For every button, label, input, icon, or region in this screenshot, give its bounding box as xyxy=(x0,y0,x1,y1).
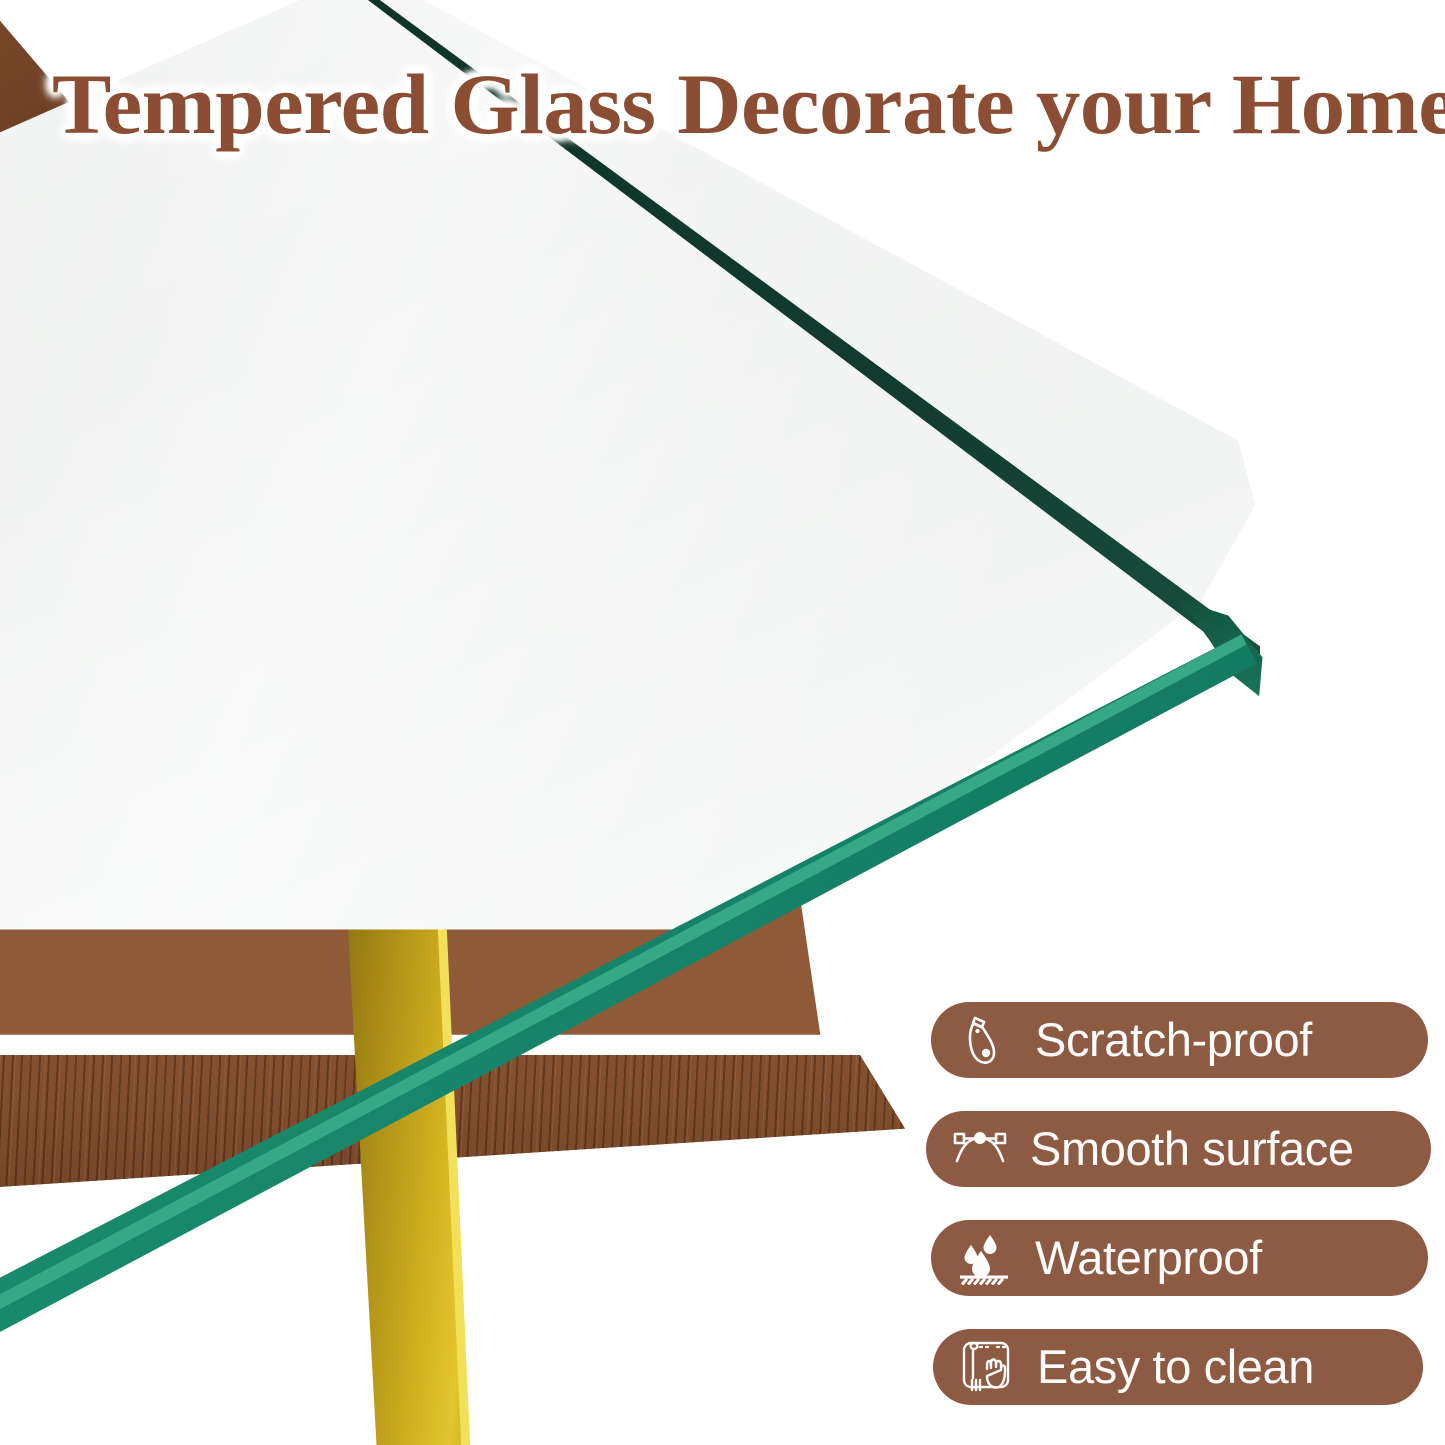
feature-label: Scratch-proof xyxy=(1035,1015,1312,1065)
feature-badge-scratch-proof[interactable]: Scratch-proof xyxy=(931,1002,1428,1078)
bezier-curve-icon xyxy=(952,1121,1008,1177)
hand-wipe-icon xyxy=(959,1339,1015,1395)
feature-badge-list: Scratch-proof Smooth surface xyxy=(928,1002,1438,1405)
headline-title: Tempered Glass Decorate your Home xyxy=(52,58,1444,150)
product-marketing-image: Tempered Glass Decorate your Home Scratc… xyxy=(0,0,1445,1445)
feature-label: Easy to clean xyxy=(1037,1342,1314,1392)
feature-label: Waterproof xyxy=(1035,1233,1262,1283)
box-cutter-icon xyxy=(957,1012,1013,1068)
feature-badge-smooth-surface[interactable]: Smooth surface xyxy=(926,1111,1431,1187)
water-droplets-icon xyxy=(957,1230,1013,1286)
feature-badge-waterproof[interactable]: Waterproof xyxy=(931,1220,1428,1296)
feature-badge-easy-to-clean[interactable]: Easy to clean xyxy=(933,1329,1423,1405)
feature-label: Smooth surface xyxy=(1030,1124,1354,1174)
